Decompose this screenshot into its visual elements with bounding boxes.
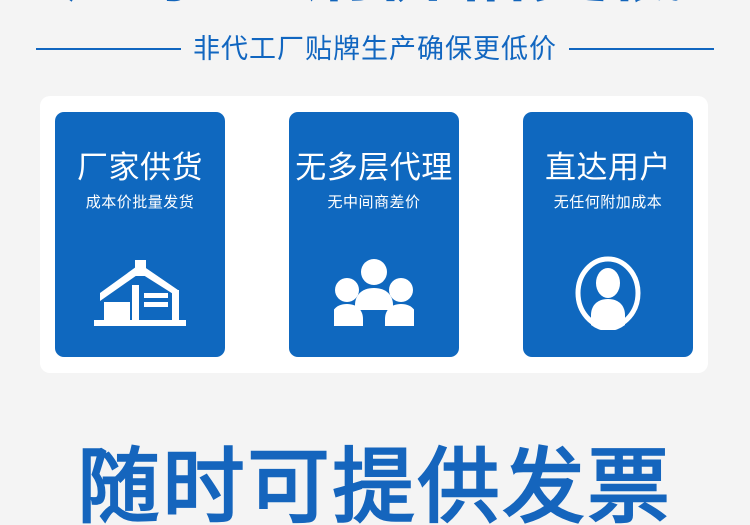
subtitle-row: 非代工厂贴牌生产确保更低价 — [36, 30, 714, 68]
bottom-headline-text: 随时可提供发票 — [0, 440, 750, 525]
feature-card-factory-supply[interactable]: 厂家供货 成本价批量发货 — [55, 112, 225, 357]
card-subtitle: 成本价批量发货 — [86, 193, 195, 213]
factory-house-icon — [55, 254, 225, 332]
feature-card-list: 厂家供货 成本价批量发货 — [55, 112, 693, 357]
card-title: 直达用户 — [545, 150, 671, 186]
people-group-icon — [289, 254, 459, 332]
feature-card-no-agents[interactable]: 无多层代理 无中间商差价 — [289, 112, 459, 357]
bottom-headline: 随时可提供发票 — [0, 440, 750, 525]
user-avatar-icon — [523, 254, 693, 332]
feature-panel: 厂家供货 成本价批量发货 — [40, 96, 708, 373]
card-subtitle: 无任何附加成本 — [554, 193, 663, 213]
feature-card-direct-to-user[interactable]: 直达用户 无任何附加成本 — [523, 112, 693, 357]
subtitle-right-rule — [569, 48, 714, 50]
subtitle-text: 非代工厂贴牌生产确保更低价 — [193, 32, 557, 66]
card-subtitle: 无中间商差价 — [327, 193, 420, 213]
subtitle-left-rule — [36, 48, 181, 50]
top-cropped-title: 厂家直销价格更低 — [0, 0, 750, 12]
card-title: 厂家供货 — [77, 150, 203, 186]
top-cropped-title-text: 厂家直销价格更低 — [0, 0, 750, 10]
card-title: 无多层代理 — [295, 150, 453, 186]
